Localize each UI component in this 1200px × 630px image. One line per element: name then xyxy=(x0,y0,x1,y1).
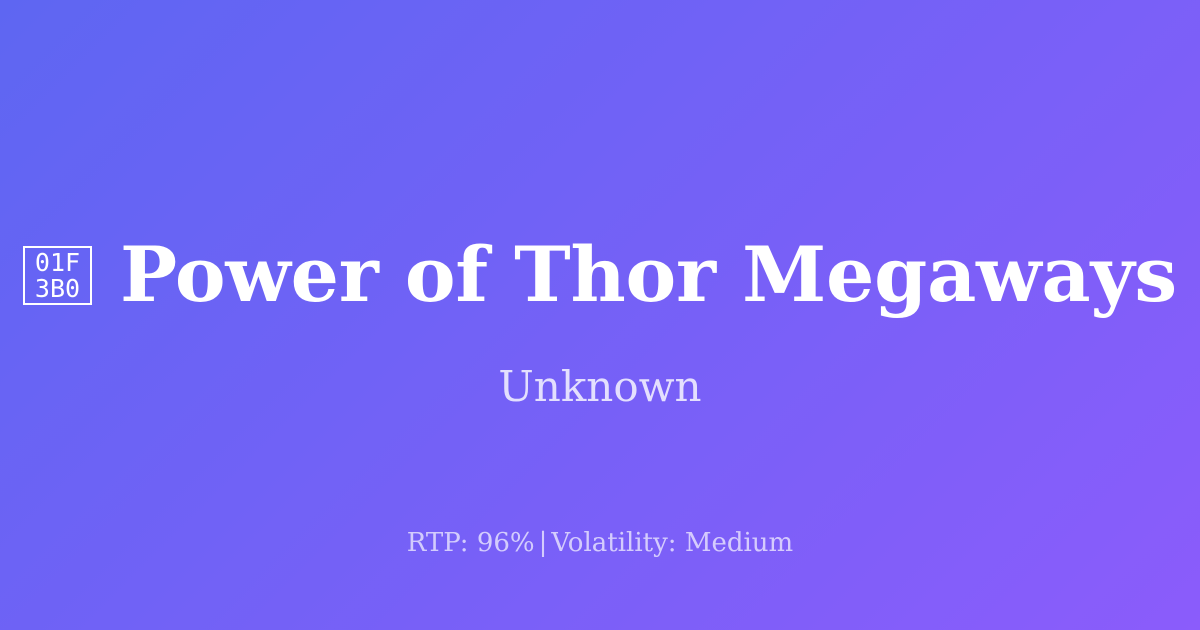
rtp-label: RTP: xyxy=(407,528,469,558)
tofu-codepoint-top: 01F xyxy=(35,250,80,276)
meta-separator: | xyxy=(535,528,552,558)
provider-name: Unknown xyxy=(0,362,1200,412)
slot-machine-icon: 01F 3B0 xyxy=(23,246,92,305)
volatility-value: Medium xyxy=(685,528,793,558)
volatility-label: Volatility: xyxy=(551,528,676,558)
rtp-value: 96% xyxy=(477,528,535,558)
game-meta: RTP: 96%|Volatility: Medium xyxy=(0,527,1200,559)
title-row: 01F 3B0 Power of Thor Megaways xyxy=(0,233,1200,317)
page-title: Power of Thor Megaways xyxy=(120,233,1177,317)
tofu-codepoint-bottom: 3B0 xyxy=(35,276,80,302)
og-share-card: 01F 3B0 Power of Thor Megaways Unknown R… xyxy=(0,0,1200,630)
